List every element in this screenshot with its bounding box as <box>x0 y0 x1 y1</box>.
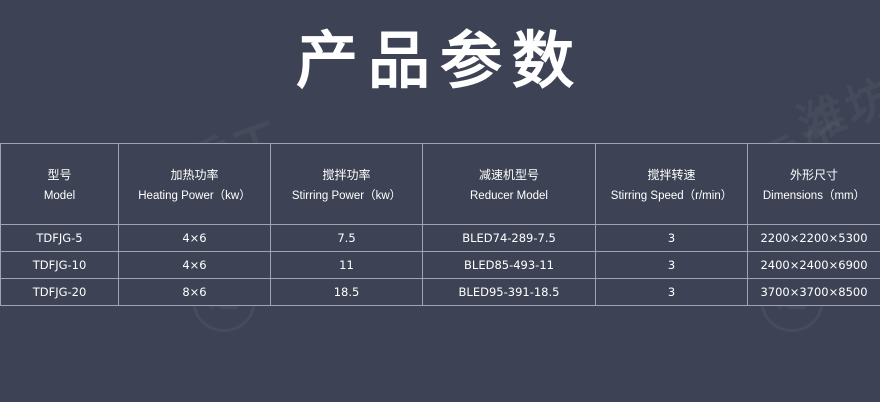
cell-reducer-model: BLED95-391-18.5 <box>423 279 596 306</box>
cell-heating-power: 4×6 <box>119 225 271 252</box>
column-header-dimensions: 外形尺寸 Dimensions（mm） <box>748 144 880 225</box>
table-row: TDFJG-10 4×6 11 BLED85-493-11 3 2400×240… <box>1 252 880 279</box>
column-header-dimensions-cn: 外形尺寸 <box>748 165 880 185</box>
cell-model: TDFJG-5 <box>1 225 119 252</box>
cell-dimensions: 2400×2400×6900 <box>748 252 880 279</box>
cell-model: TDFJG-20 <box>1 279 119 306</box>
specification-table: 型号 Model 加热功率 Heating Power（kw） 搅拌功率 Sti… <box>0 143 880 306</box>
page-title: 产品参数 <box>0 10 880 100</box>
column-header-reducer-model: 减速机型号 Reducer Model <box>423 144 596 225</box>
column-header-dimensions-en: Dimensions（mm） <box>748 188 880 204</box>
cell-stirring-power: 11 <box>271 252 423 279</box>
cell-stirring-power: 18.5 <box>271 279 423 306</box>
column-header-heating-power-en: Heating Power（kw） <box>119 188 270 204</box>
cell-heating-power: 8×6 <box>119 279 271 306</box>
column-header-stirring-power-cn: 搅拌功率 <box>271 165 422 185</box>
column-header-stirring-power: 搅拌功率 Stirring Power（kw） <box>271 144 423 225</box>
column-header-heating-power: 加热功率 Heating Power（kw） <box>119 144 271 225</box>
cell-stirring-speed: 3 <box>596 225 748 252</box>
column-header-heating-power-cn: 加热功率 <box>119 165 270 185</box>
column-header-stirring-speed-en: Stirring Speed（r/min） <box>596 188 747 204</box>
product-spec-page: 潍坊达宇重工 潍坊达宇重工 潍坊达宇重工 达 达 产品参数 型号 Model 加… <box>0 0 880 402</box>
cell-dimensions: 3700×3700×8500 <box>748 279 880 306</box>
column-header-model-cn: 型号 <box>1 165 118 185</box>
cell-heating-power: 4×6 <box>119 252 271 279</box>
column-header-model: 型号 Model <box>1 144 119 225</box>
column-header-stirring-speed: 搅拌转速 Stirring Speed（r/min） <box>596 144 748 225</box>
table-header-row: 型号 Model 加热功率 Heating Power（kw） 搅拌功率 Sti… <box>1 144 880 225</box>
cell-model: TDFJG-10 <box>1 252 119 279</box>
column-header-reducer-model-cn: 减速机型号 <box>423 165 595 185</box>
column-header-reducer-model-en: Reducer Model <box>423 188 595 204</box>
cell-stirring-speed: 3 <box>596 279 748 306</box>
column-header-model-en: Model <box>1 188 118 204</box>
table-row: TDFJG-20 8×6 18.5 BLED95-391-18.5 3 3700… <box>1 279 880 306</box>
cell-reducer-model: BLED74-289-7.5 <box>423 225 596 252</box>
table-row: TDFJG-5 4×6 7.5 BLED74-289-7.5 3 2200×22… <box>1 225 880 252</box>
cell-dimensions: 2200×2200×5300 <box>748 225 880 252</box>
cell-stirring-speed: 3 <box>596 252 748 279</box>
cell-reducer-model: BLED85-493-11 <box>423 252 596 279</box>
column-header-stirring-power-en: Stirring Power（kw） <box>271 188 422 204</box>
column-header-stirring-speed-cn: 搅拌转速 <box>596 165 747 185</box>
cell-stirring-power: 7.5 <box>271 225 423 252</box>
